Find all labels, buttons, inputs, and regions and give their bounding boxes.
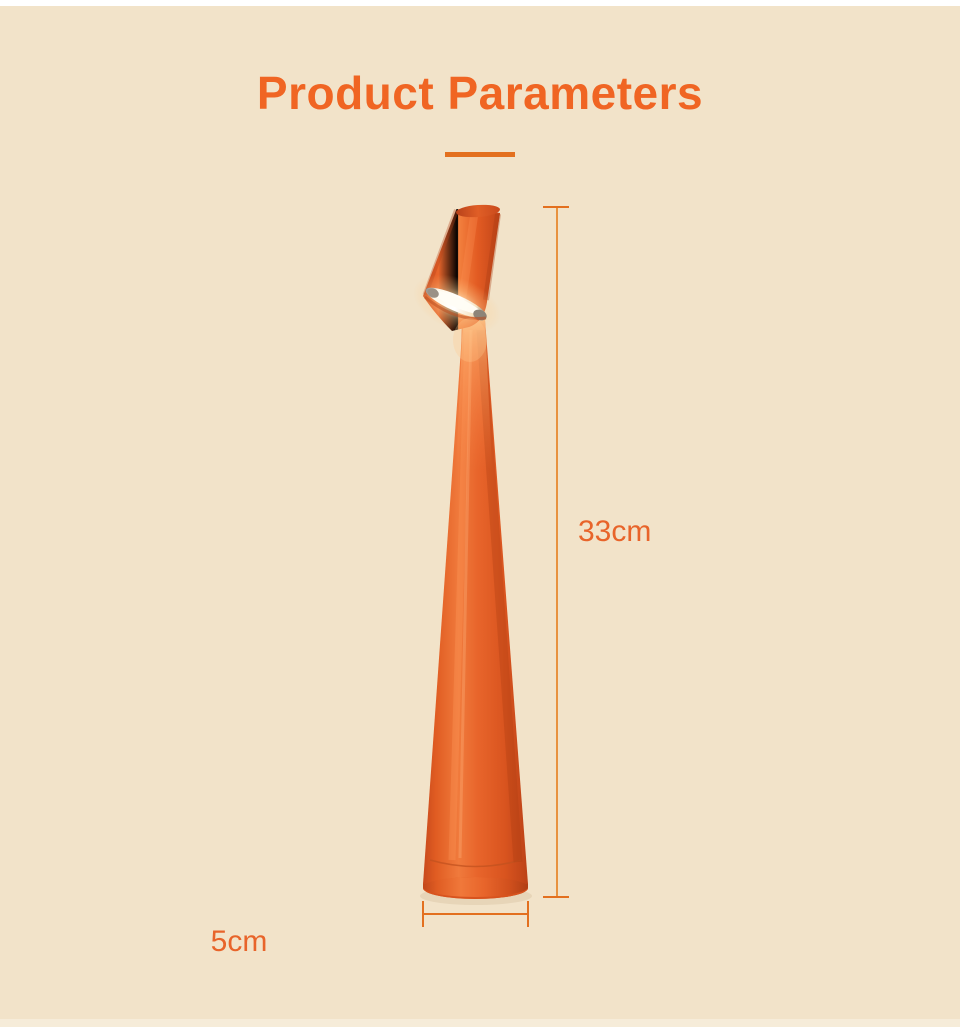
width-dimension-label: 5cm [0,922,960,962]
product-parameters-page: Product Parameters [0,0,960,1027]
width-dimension-line [423,913,529,915]
bottom-edge-strip [0,1019,960,1027]
title-divider [445,152,515,157]
height-dimension-line [556,207,558,898]
height-dimension-cap-bottom [543,896,569,898]
page-title: Product Parameters [0,64,960,122]
height-dimension-cap-top [543,206,569,208]
height-dimension-label: 33cm [578,512,651,552]
top-edge-strip [0,0,960,6]
